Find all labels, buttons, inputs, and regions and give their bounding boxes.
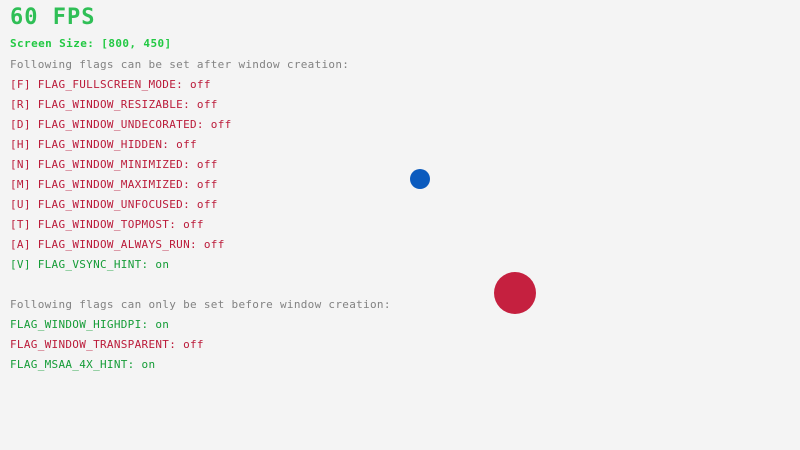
flag-row[interactable]: [M] FLAG_WINDOW_MAXIMIZED: off: [10, 178, 430, 198]
fps-counter: 60 FPS: [10, 5, 95, 31]
screen-size-label: Screen Size: [800, 450]: [10, 37, 172, 50]
flag-key-binding: [N]: [10, 158, 38, 171]
flag-value: off: [176, 138, 197, 151]
flag-row[interactable]: [D] FLAG_WINDOW_UNDECORATED: off: [10, 118, 430, 138]
flag-row[interactable]: [H] FLAG_WINDOW_HIDDEN: off: [10, 138, 430, 158]
flag-name: FLAG_WINDOW_TRANSPARENT:: [10, 338, 183, 351]
flag-value: off: [211, 118, 232, 131]
flag-value: off: [197, 98, 218, 111]
section-heading-before-creation: Following flags can only be set before w…: [10, 298, 391, 311]
flag-key-binding: [R]: [10, 98, 38, 111]
flag-value: off: [183, 218, 204, 231]
flag-value: off: [190, 78, 211, 91]
flag-key-binding: [H]: [10, 138, 38, 151]
flag-value: off: [197, 198, 218, 211]
flag-name: FLAG_WINDOW_UNFOCUSED:: [38, 198, 197, 211]
bouncing-ball-red: [494, 272, 536, 314]
flag-row: FLAG_MSAA_4X_HINT: on: [10, 358, 430, 378]
flag-name: FLAG_WINDOW_MAXIMIZED:: [38, 178, 197, 191]
flag-key-binding: [V]: [10, 258, 38, 271]
flag-name: FLAG_WINDOW_HIGHDPI:: [10, 318, 155, 331]
flag-name: FLAG_MSAA_4X_HINT:: [10, 358, 142, 371]
flag-name: FLAG_FULLSCREEN_MODE:: [38, 78, 190, 91]
flag-row: FLAG_WINDOW_TRANSPARENT: off: [10, 338, 430, 358]
bouncing-ball-blue: [410, 169, 430, 189]
flag-row[interactable]: [T] FLAG_WINDOW_TOPMOST: off: [10, 218, 430, 238]
flag-list-before-creation: FLAG_WINDOW_HIGHDPI: onFLAG_WINDOW_TRANS…: [10, 318, 430, 378]
flag-value: on: [142, 358, 156, 371]
flag-key-binding: [M]: [10, 178, 38, 191]
flag-name: FLAG_WINDOW_TOPMOST:: [38, 218, 183, 231]
flag-name: FLAG_WINDOW_MINIMIZED:: [38, 158, 197, 171]
flag-value: off: [204, 238, 225, 251]
flag-name: FLAG_WINDOW_ALWAYS_RUN:: [38, 238, 204, 251]
flag-key-binding: [T]: [10, 218, 38, 231]
section-heading-after-creation: Following flags can be set after window …: [10, 58, 349, 71]
flag-row: FLAG_WINDOW_HIGHDPI: on: [10, 318, 430, 338]
flag-row[interactable]: [F] FLAG_FULLSCREEN_MODE: off: [10, 78, 430, 98]
flag-key-binding: [A]: [10, 238, 38, 251]
flag-row[interactable]: [A] FLAG_WINDOW_ALWAYS_RUN: off: [10, 238, 430, 258]
flag-key-binding: [F]: [10, 78, 38, 91]
flag-name: FLAG_WINDOW_UNDECORATED:: [38, 118, 211, 131]
flag-row[interactable]: [U] FLAG_WINDOW_UNFOCUSED: off: [10, 198, 430, 218]
flag-value: off: [183, 338, 204, 351]
flag-row[interactable]: [V] FLAG_VSYNC_HINT: on: [10, 258, 430, 278]
flag-row[interactable]: [N] FLAG_WINDOW_MINIMIZED: off: [10, 158, 430, 178]
app-canvas: 60 FPS Screen Size: [800, 450] Following…: [0, 0, 800, 450]
flag-name: FLAG_WINDOW_RESIZABLE:: [38, 98, 197, 111]
flag-key-binding: [D]: [10, 118, 38, 131]
flag-value: on: [155, 318, 169, 331]
flag-value: off: [197, 158, 218, 171]
flag-value: off: [197, 178, 218, 191]
flag-key-binding: [U]: [10, 198, 38, 211]
flag-name: FLAG_VSYNC_HINT:: [38, 258, 156, 271]
flag-name: FLAG_WINDOW_HIDDEN:: [38, 138, 176, 151]
flag-value: on: [155, 258, 169, 271]
flag-list-after-creation: [F] FLAG_FULLSCREEN_MODE: off[R] FLAG_WI…: [10, 78, 430, 278]
flag-row[interactable]: [R] FLAG_WINDOW_RESIZABLE: off: [10, 98, 430, 118]
